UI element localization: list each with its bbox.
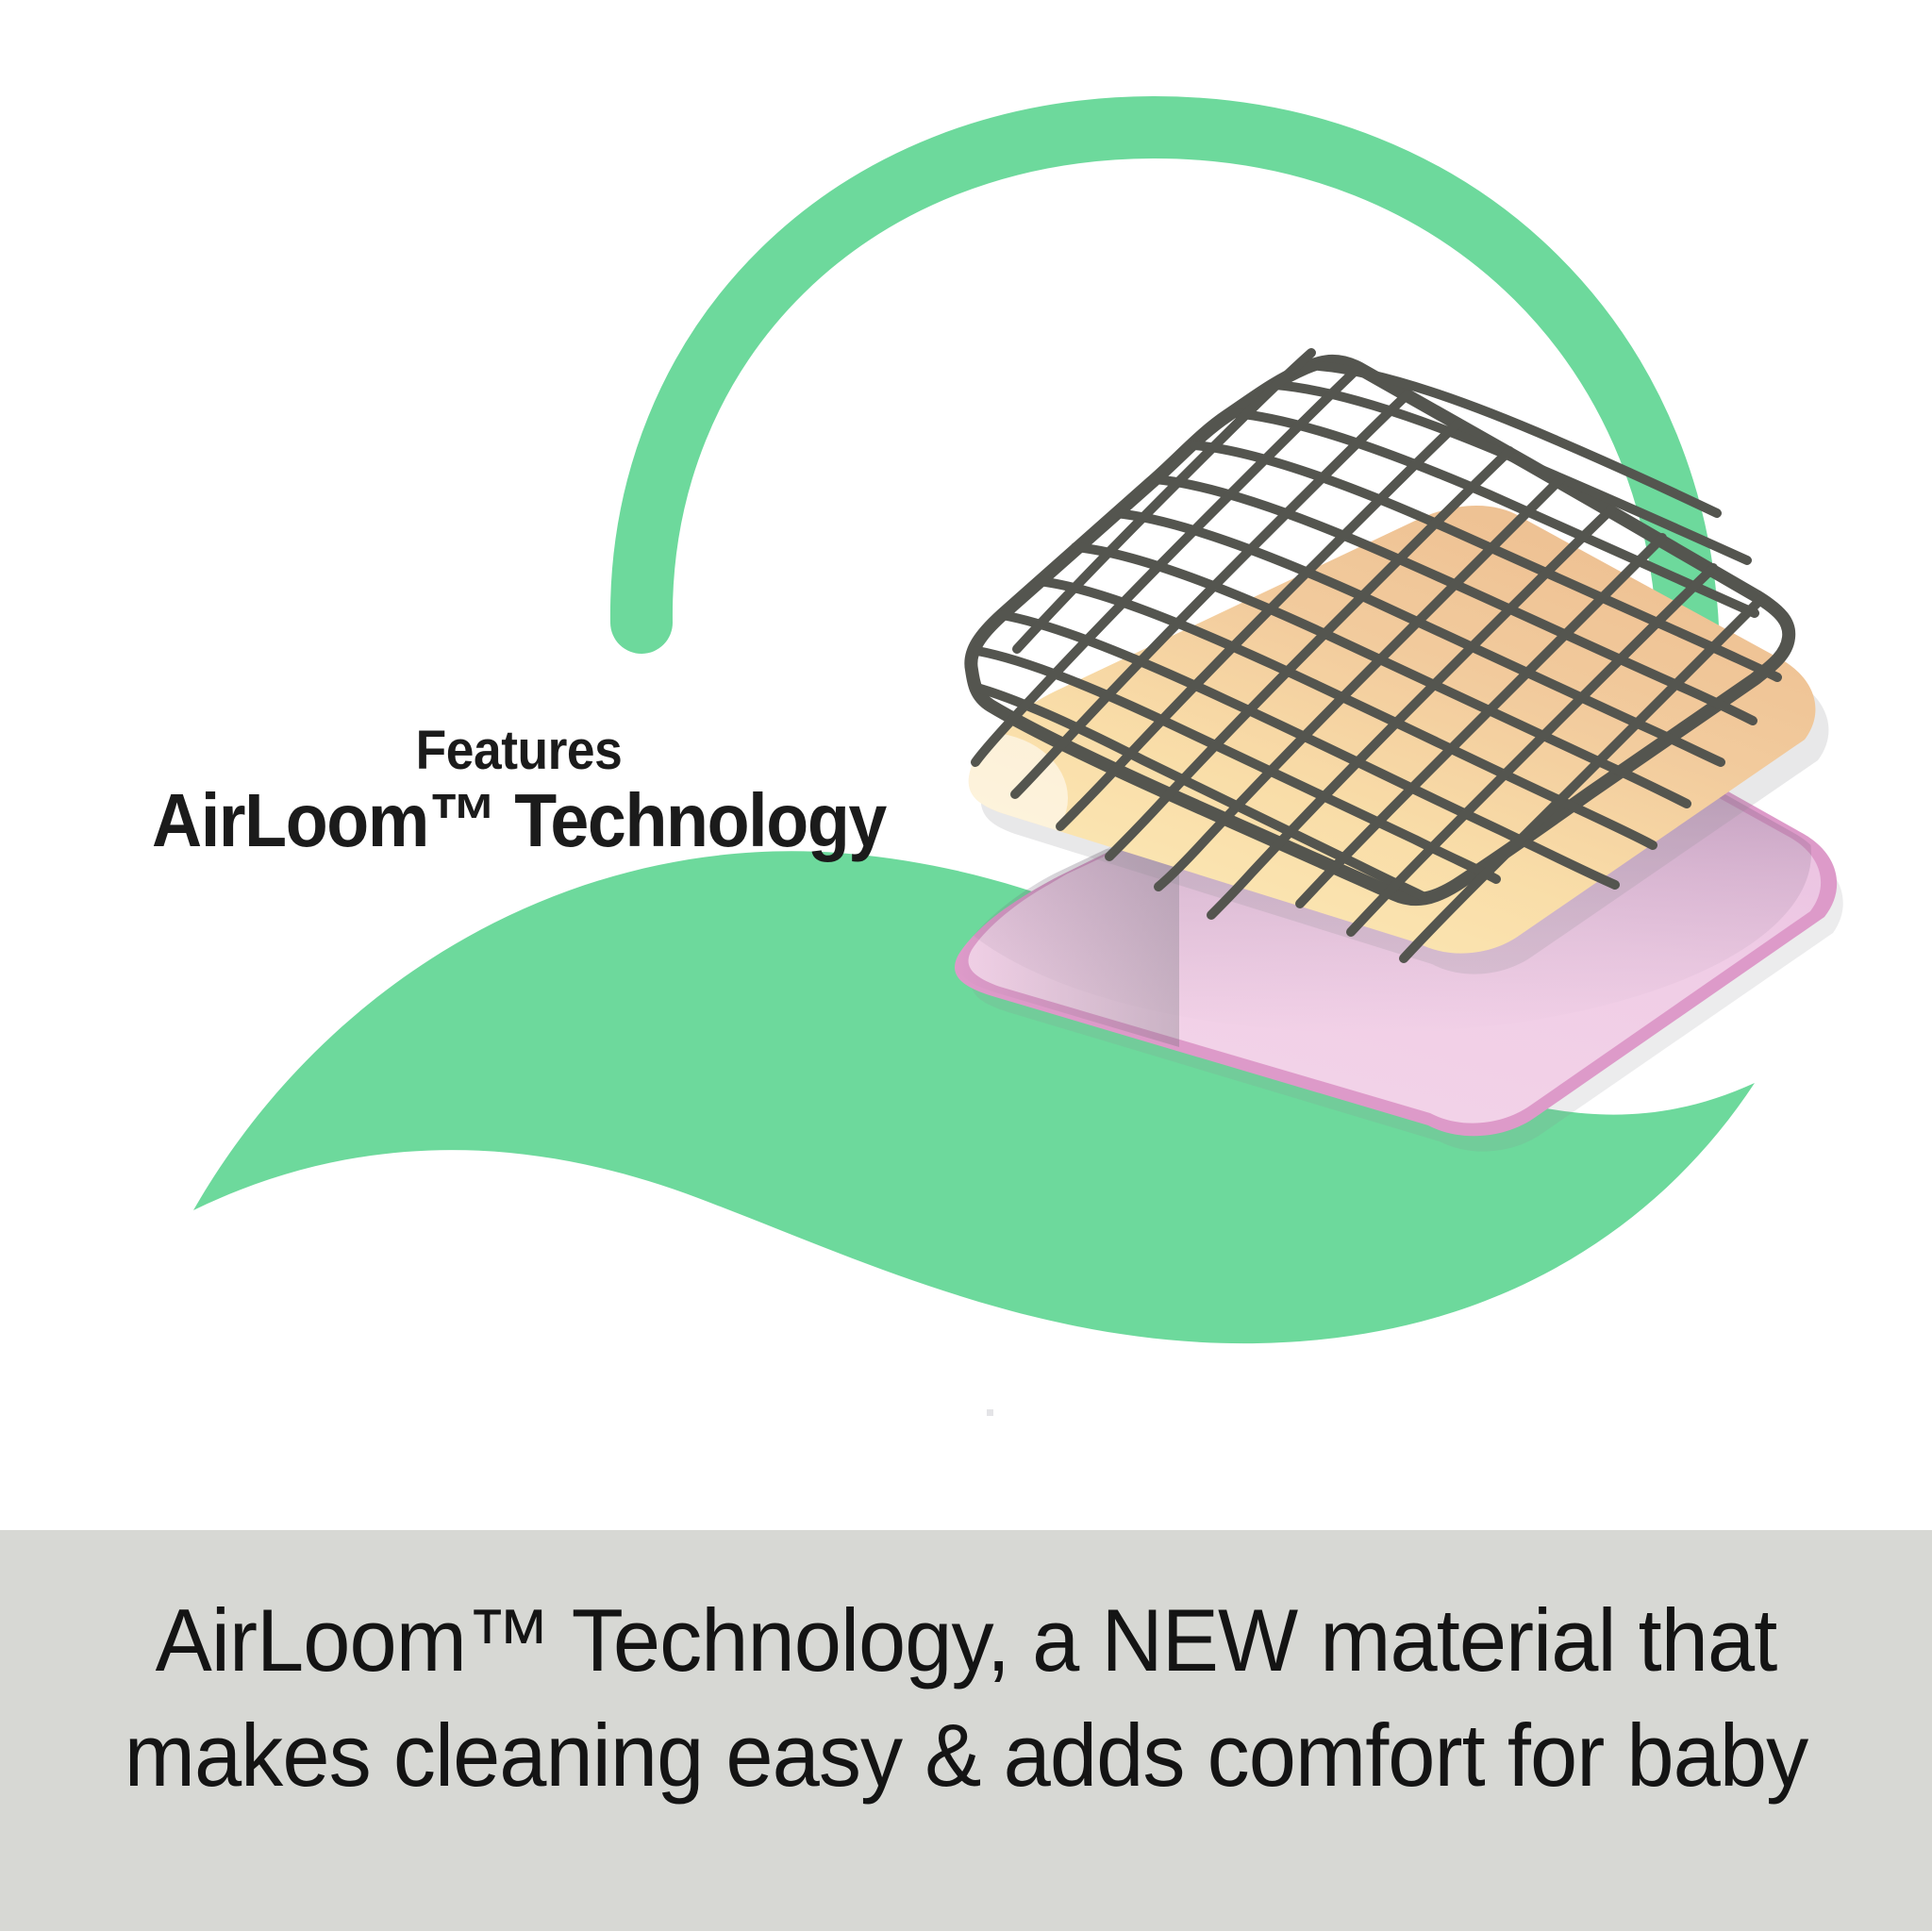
- caption-text: AirLoom™ Technology, a NEW material that…: [0, 1583, 1932, 1813]
- caption-line-2: makes cleaning easy & adds comfort for b…: [75, 1698, 1857, 1813]
- headline-line-1: Features: [137, 723, 901, 778]
- headline-line-2: AirLoom™ Technology: [137, 782, 901, 859]
- caption-line-1: AirLoom™ Technology, a NEW material that: [75, 1583, 1857, 1698]
- product-feature-graphic: Features AirLoom™ Technology AirLoom™ Te…: [0, 0, 1932, 1931]
- stray-speck: [987, 1409, 993, 1416]
- headline-block: Features AirLoom™ Technology: [104, 723, 934, 859]
- hero-illustration-area: Features AirLoom™ Technology: [0, 0, 1932, 1533]
- caption-band: AirLoom™ Technology, a NEW material that…: [0, 1530, 1932, 1931]
